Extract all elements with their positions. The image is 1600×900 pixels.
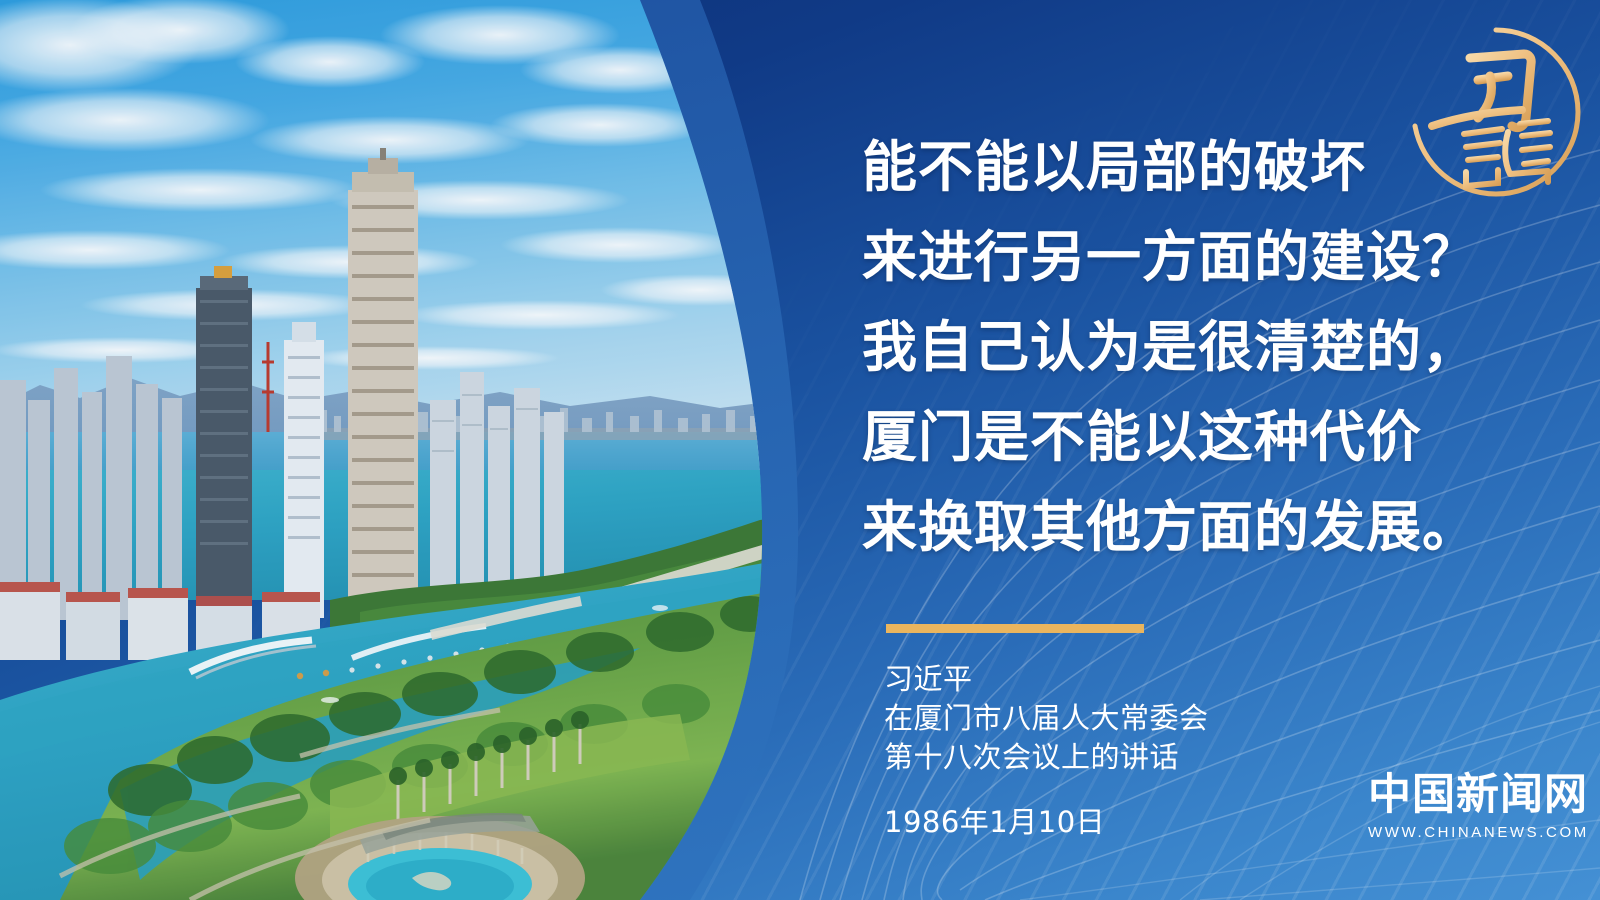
attribution-occasion-line-1: 在厦门市八届人大常委会 — [884, 699, 1209, 738]
xiamen-photo-canvas — [0, 0, 800, 900]
quote-line: 能不能以局部的破坏 — [862, 122, 1562, 212]
chinanews-logo: 中国新闻网 WWW.CHINANEWS.COM — [1368, 770, 1582, 841]
quote-block: 能不能以局部的破坏 来进行另一方面的建设？ 我自己认为是很清楚的， 厦门是不能以… — [862, 122, 1562, 572]
attribution-occasion-line-2: 第十八次会议上的讲话 — [884, 738, 1209, 777]
poster-canvas: 能不能以局部的破坏 来进行另一方面的建设？ 我自己认为是很清楚的， 厦门是不能以… — [0, 0, 1600, 900]
quote-line: 来换取其他方面的发展。 — [862, 482, 1562, 572]
quote-line: 厦门是不能以这种代价 — [862, 392, 1562, 482]
gold-divider — [886, 624, 1144, 633]
quote-line: 我自己认为是很清楚的， — [862, 302, 1562, 392]
chinanews-url: WWW.CHINANEWS.COM — [1368, 824, 1582, 841]
attribution-speaker: 习近平 — [884, 660, 1209, 699]
chinanews-name: 中国新闻网 — [1368, 770, 1582, 820]
attribution-block: 习近平 在厦门市八届人大常委会 第十八次会议上的讲话 1986年1月10日 — [884, 660, 1209, 842]
xiamen-photo — [0, 0, 800, 900]
quote-line: 来进行另一方面的建设？ — [862, 212, 1562, 302]
attribution-date: 1986年1月10日 — [884, 803, 1209, 842]
